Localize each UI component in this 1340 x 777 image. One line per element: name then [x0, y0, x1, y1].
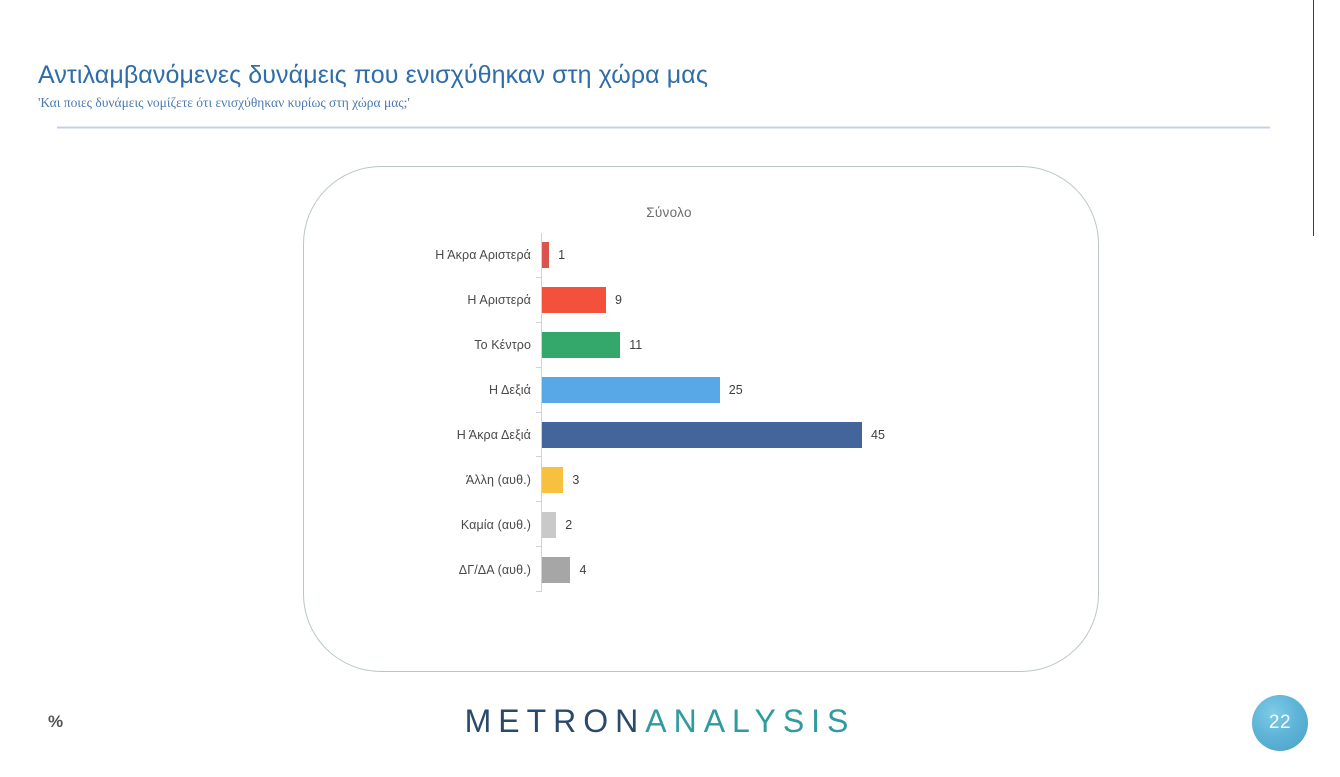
- slide-canvas: Αντιλαμβανόμενες δυνάμεις που ενισχύθηκα…: [0, 0, 1340, 777]
- bar-segment[interactable]: [542, 287, 606, 313]
- page-subtitle: 'Και ποιες δυνάμεις νομίζετε ότι ενισχύθ…: [38, 94, 1278, 112]
- bar-segment[interactable]: [542, 332, 620, 358]
- bar-category-label: ΔΓ/ΔΑ (αυθ.): [304, 563, 531, 577]
- bar-value-label: 1: [558, 248, 565, 262]
- bar-category-label: Η Αριστερά: [304, 293, 531, 307]
- bar-chart-plot: Η Άκρα Αριστερά1Η Αριστερά9Το Κέντρο11Η …: [304, 167, 1098, 671]
- bar-segment[interactable]: [542, 242, 549, 268]
- bar-segment[interactable]: [542, 557, 570, 583]
- page-edge-rule: [1313, 0, 1314, 236]
- bar-wrapper: 9: [542, 278, 622, 323]
- bar-category-label: Το Κέντρο: [304, 338, 531, 352]
- page-number-badge: 22: [1252, 695, 1308, 751]
- bar-category-label: Καμία (αυθ.): [304, 518, 531, 532]
- bar-value-label: 25: [729, 383, 743, 397]
- title-divider: [57, 126, 1270, 129]
- bar-segment[interactable]: [542, 377, 720, 403]
- bar-wrapper: 2: [542, 502, 572, 547]
- bar-wrapper: 3: [542, 457, 579, 502]
- bar-wrapper: 11: [542, 323, 642, 368]
- bar-row: Η Άκρα Δεξιά45: [304, 413, 1098, 458]
- bar-row: Η Αριστερά9: [304, 278, 1098, 323]
- bar-wrapper: 45: [542, 413, 885, 458]
- logo-metron-text: METRON: [465, 703, 646, 739]
- bar-wrapper: 1: [542, 233, 565, 278]
- bar-value-label: 2: [565, 518, 572, 532]
- bar-value-label: 11: [629, 338, 642, 352]
- bar-row: Το Κέντρο11: [304, 323, 1098, 368]
- bar-wrapper: 4: [542, 547, 586, 592]
- logo-analysis-text: ANALYSIS: [645, 703, 855, 739]
- bar-rows: Η Άκρα Αριστερά1Η Αριστερά9Το Κέντρο11Η …: [304, 233, 1098, 592]
- bar-category-label: Η Άκρα Αριστερά: [304, 248, 531, 262]
- bar-category-label: Η Άκρα Δεξιά: [304, 428, 531, 442]
- bar-segment[interactable]: [542, 467, 563, 493]
- bar-row: Η Άκρα Αριστερά1: [304, 233, 1098, 278]
- bar-segment[interactable]: [542, 422, 862, 448]
- bar-wrapper: 25: [542, 368, 743, 413]
- metron-analysis-logo: METRONANALYSIS: [0, 703, 1330, 740]
- bar-value-label: 4: [579, 563, 586, 577]
- chart-container: Σύνολο Η Άκρα Αριστερά1Η Αριστερά9Το Κέν…: [303, 166, 1099, 672]
- slide-header: Αντιλαμβανόμενες δυνάμεις που ενισχύθηκα…: [38, 60, 1278, 112]
- axis-tick: [536, 591, 541, 592]
- bar-value-label: 45: [871, 428, 885, 442]
- bar-segment[interactable]: [542, 512, 556, 538]
- bar-row: ΔΓ/ΔΑ (αυθ.)4: [304, 547, 1098, 592]
- bar-category-label: Άλλη (αυθ.): [304, 473, 531, 487]
- page-title: Αντιλαμβανόμενες δυνάμεις που ενισχύθηκα…: [38, 60, 1278, 90]
- bar-value-label: 3: [572, 473, 579, 487]
- bar-value-label: 9: [615, 293, 622, 307]
- bar-category-label: Η Δεξιά: [304, 383, 531, 397]
- bar-row: Καμία (αυθ.)2: [304, 502, 1098, 547]
- bar-row: Άλλη (αυθ.)3: [304, 457, 1098, 502]
- bar-row: Η Δεξιά25: [304, 368, 1098, 413]
